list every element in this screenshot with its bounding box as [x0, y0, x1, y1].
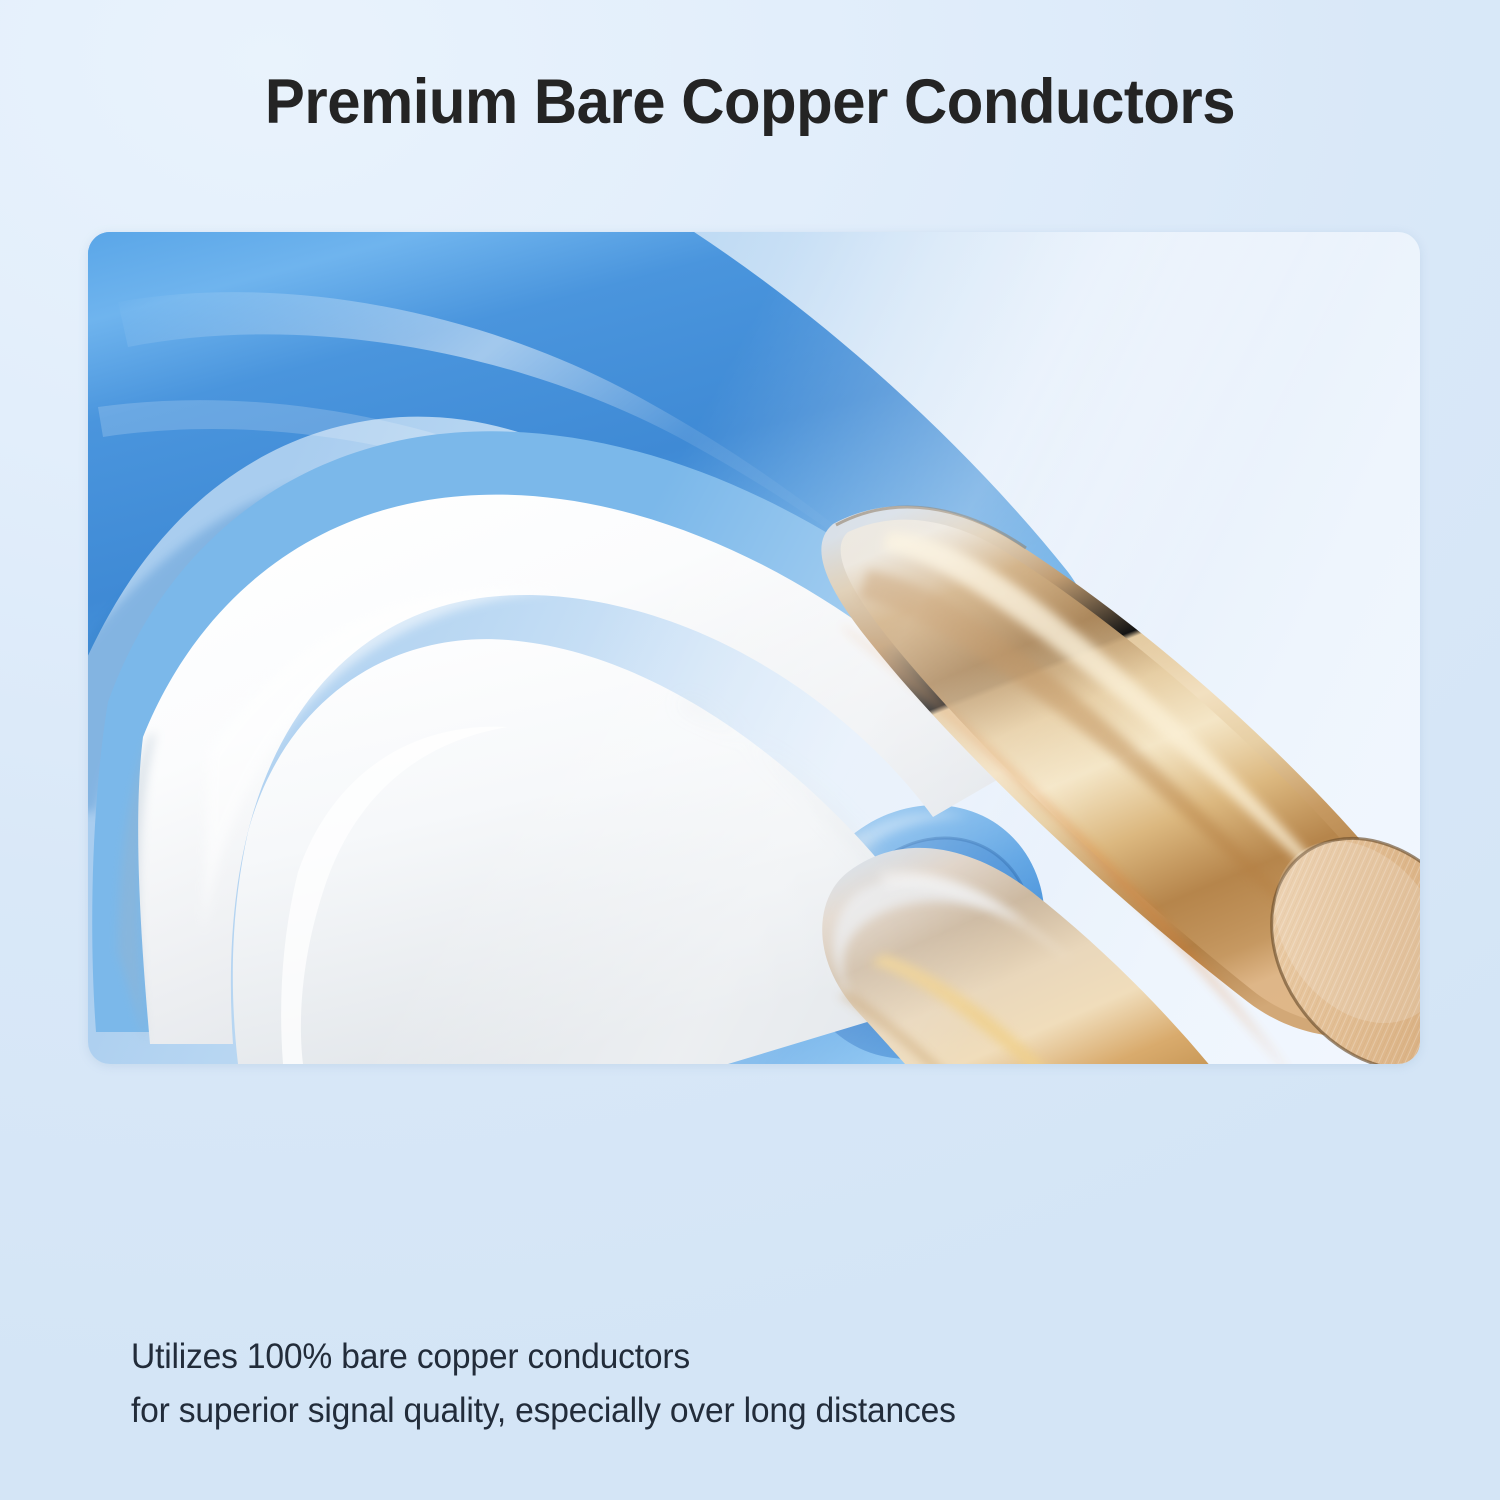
product-image-card: 23 AWG Bare Copper Conductor: [88, 232, 1420, 1064]
feature-caption: Utilizes 100% bare copper conductors for…: [131, 1330, 956, 1439]
product-feature-graphic: Premium Bare Copper Conductors: [0, 0, 1500, 1500]
cable-illustration: [88, 232, 1420, 1064]
caption-line-2: for superior signal quality, especially …: [131, 1384, 956, 1438]
caption-line-1: Utilizes 100% bare copper conductors: [131, 1330, 956, 1384]
page-title: Premium Bare Copper Conductors: [38, 66, 1463, 138]
